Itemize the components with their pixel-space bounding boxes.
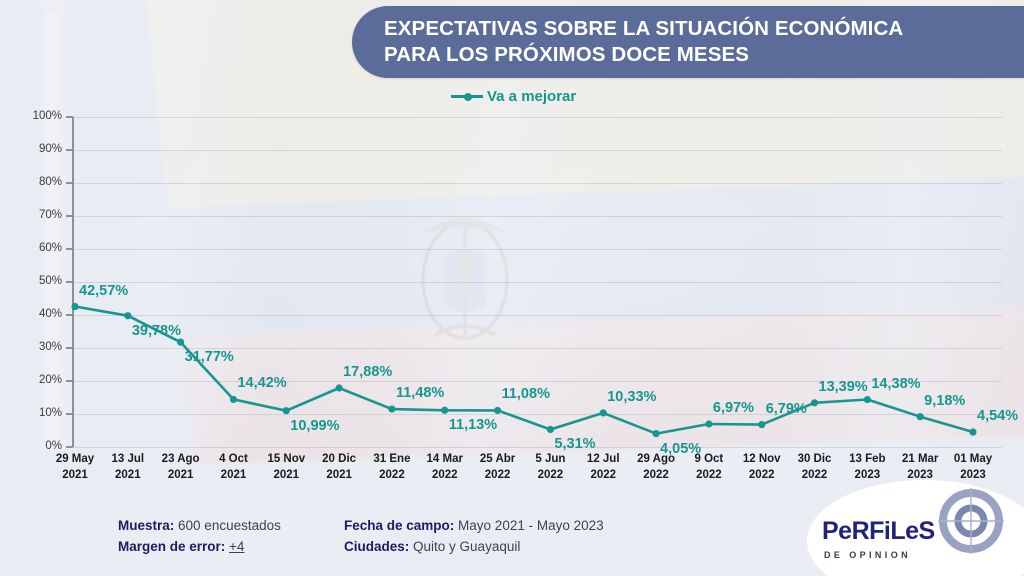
ciudades-value: Quito y Guayaquil (413, 539, 520, 554)
data-point-label: 14,38% (871, 376, 920, 392)
data-point-label: 10,33% (607, 389, 656, 405)
margen-value: +4 (229, 539, 244, 554)
fecha-value: Mayo 2021 - Mayo 2023 (458, 518, 604, 533)
x-axis-tick-label: 01 May2023 (937, 452, 1009, 483)
data-point[interactable] (230, 396, 237, 403)
data-point[interactable] (71, 303, 78, 310)
data-point[interactable] (917, 413, 924, 420)
data-point-label: 5,31% (554, 436, 595, 452)
data-point-label: 39,78% (132, 323, 181, 339)
data-point[interactable] (547, 426, 554, 433)
data-point[interactable] (441, 407, 448, 414)
slide-footer: Muestra: 600 encuestados Margen de error… (0, 498, 1024, 576)
data-point[interactable] (652, 430, 659, 437)
data-point[interactable] (864, 396, 871, 403)
data-point-label: 13,39% (819, 379, 868, 395)
logo-tagline: DE OPINION (824, 550, 911, 560)
data-point[interactable] (124, 312, 131, 319)
data-point-label: 31,77% (185, 349, 234, 365)
data-point[interactable] (388, 406, 395, 413)
margen-label: Margen de error: (118, 539, 225, 554)
slide-root: EXPECTATIVAS SOBRE LA SITUACIÓN ECONÓMIC… (0, 0, 1024, 576)
data-point-label: 17,88% (343, 364, 392, 380)
data-point-label: 9,18% (924, 393, 965, 409)
data-point[interactable] (283, 407, 290, 414)
data-point[interactable] (336, 384, 343, 391)
data-point[interactable] (705, 420, 712, 427)
perfiles-de-opinion-logo[interactable]: PeRFiLeS DE OPINION (822, 512, 990, 560)
muestra-value: 600 encuestados (178, 518, 281, 533)
data-point-label: 6,97% (713, 400, 754, 416)
fecha-label: Fecha de campo: (344, 518, 454, 533)
data-point[interactable] (969, 428, 976, 435)
data-point-label: 14,42% (237, 375, 286, 391)
data-point-label: 10,99% (290, 418, 339, 434)
data-point[interactable] (758, 421, 765, 428)
logo-wordmark: PeRFiLeS (822, 517, 935, 546)
data-point[interactable] (811, 399, 818, 406)
footer-sample-info: Muestra: 600 encuestados Margen de error… (118, 516, 281, 558)
line-chart: 100%90%80%70%60%50%40%30%20%10%0% 42,57%… (0, 0, 1024, 500)
data-point-label: 11,08% (502, 386, 550, 402)
data-point[interactable] (494, 407, 501, 414)
data-point-label: 6,79% (766, 401, 807, 417)
data-point-label: 11,13% (449, 417, 497, 433)
muestra-label: Muestra: (118, 518, 174, 533)
ciudades-label: Ciudades: (344, 539, 409, 554)
data-point-label: 4,54% (977, 408, 1018, 424)
data-point-label: 42,57% (79, 283, 128, 299)
data-point[interactable] (600, 409, 607, 416)
footer-fieldwork-info: Fecha de campo: Mayo 2021 - Mayo 2023 Ci… (344, 516, 604, 558)
data-point[interactable] (177, 339, 184, 346)
data-point-label: 11,48% (396, 385, 444, 401)
series-va-a-mejorar (0, 0, 1024, 500)
target-crosshair-icon (938, 488, 1004, 554)
